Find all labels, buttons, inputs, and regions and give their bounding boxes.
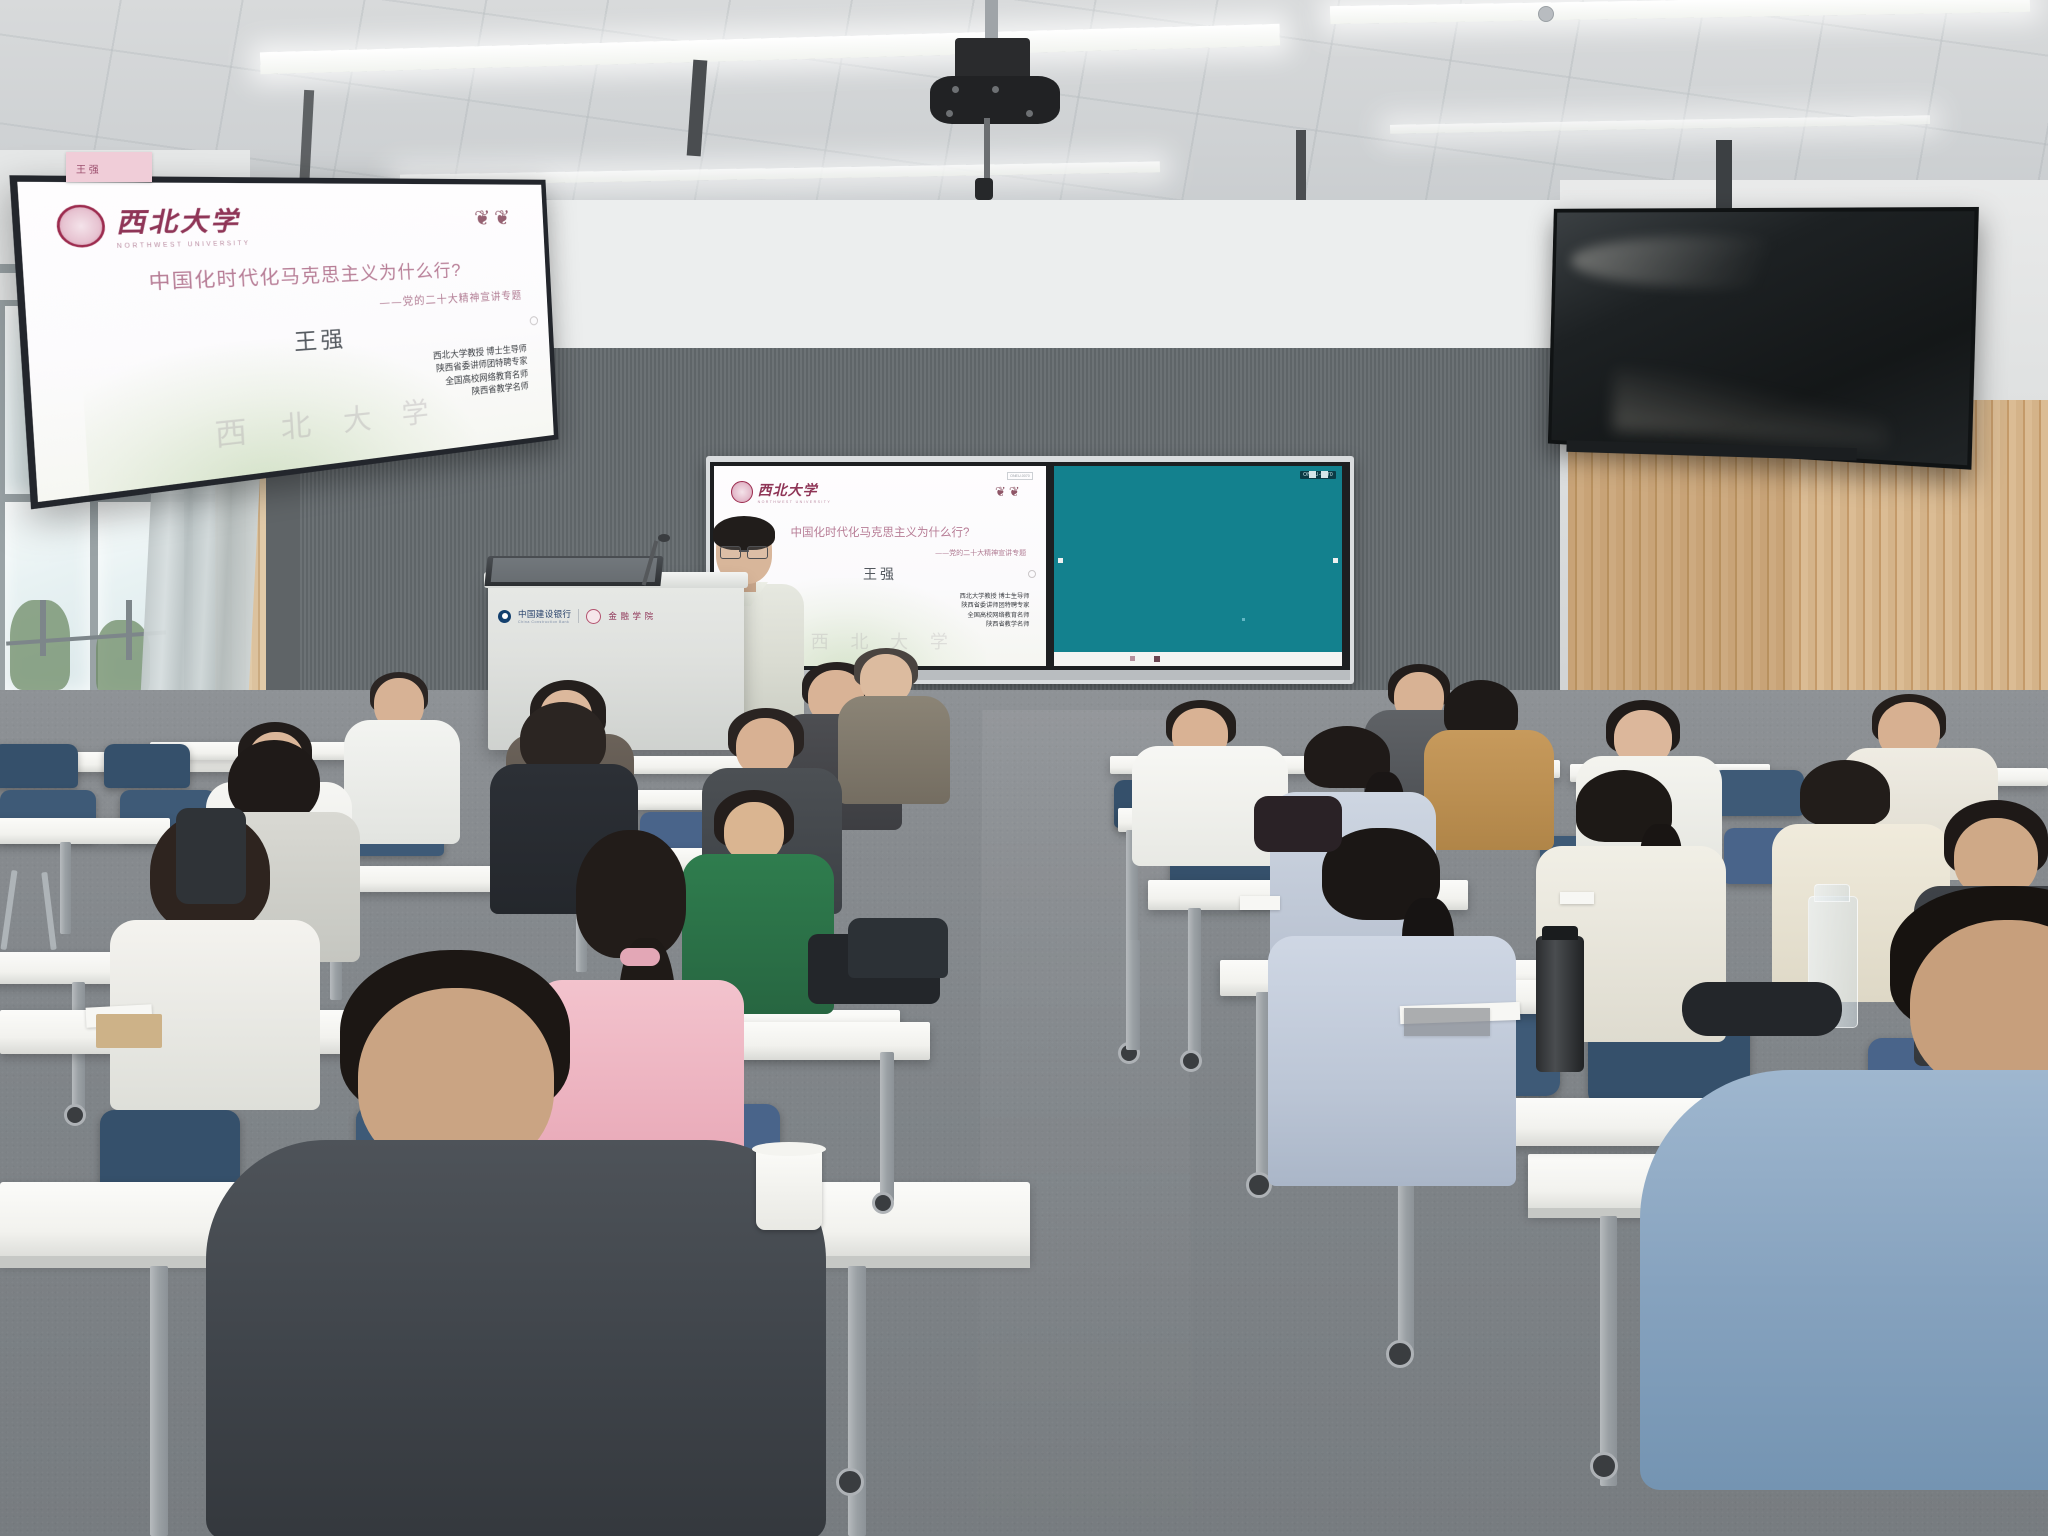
bottle-cap xyxy=(1542,926,1578,940)
slide-credentials: 西北大学教授 博士生导师 陕西省委讲师团特聘专家 全国高校网络教育名师 陕西省教… xyxy=(960,592,1030,629)
mount-screw xyxy=(946,110,953,117)
microphone-icon xyxy=(658,534,670,542)
credential-line: 全国高校网络教育名师 xyxy=(960,611,1030,620)
projector-cable xyxy=(984,118,990,186)
lecture-hall-photo: 西 北 大 学 西北大学 NORTHWEST UNIVERSITY ❦❦ 中国化… xyxy=(0,0,2048,1536)
ceiling-mount-rod xyxy=(1296,130,1306,208)
tv-screen-reflection xyxy=(1570,235,1856,290)
desk-caster xyxy=(836,1468,864,1496)
lectern-sponsor-logos: 中国建设银行 China Construction Bank 金 融 学 院 xyxy=(498,606,730,626)
board-cursor-dot xyxy=(1242,618,1245,621)
credential-line: 西北大学教授 博士生导师 xyxy=(960,592,1030,601)
printed-photo xyxy=(1404,1008,1490,1036)
hair xyxy=(576,830,686,958)
desk-caster xyxy=(64,1104,86,1126)
outside-railing-post xyxy=(40,600,46,656)
mount-screw xyxy=(992,86,999,93)
desk-leg xyxy=(880,1052,894,1202)
seal-icon xyxy=(586,609,601,624)
slide-subtitle: ——党的二十大精神宣讲专题 xyxy=(379,286,522,309)
torso xyxy=(206,1140,826,1536)
credential-line: 陕西省委讲师团特聘专家 xyxy=(960,601,1030,610)
chair xyxy=(1712,770,1804,816)
board-settings-icon[interactable] xyxy=(1309,471,1316,478)
desk-caster xyxy=(872,1192,894,1214)
backpack[interactable] xyxy=(176,808,246,904)
desk-leg xyxy=(1600,1216,1617,1486)
laptop-screen xyxy=(491,558,658,582)
sponsor-name-cn: 金 融 学 院 xyxy=(608,610,653,622)
flying-birds-icon: ❦❦ xyxy=(474,205,515,231)
paper-cup[interactable] xyxy=(756,1148,822,1230)
board-side-handle[interactable] xyxy=(1058,558,1063,563)
cardboard-box[interactable] xyxy=(96,1014,162,1048)
desk-leg xyxy=(1188,908,1201,1058)
torso xyxy=(1424,730,1554,850)
desk-leg xyxy=(60,842,71,934)
university-name-cn: 西北大学 xyxy=(758,480,832,500)
slide-marker-dot xyxy=(1028,570,1036,578)
smart-board-taskbar[interactable] xyxy=(1054,652,1342,666)
mount-screw xyxy=(1026,110,1033,117)
eyeglasses-icon xyxy=(720,546,768,557)
taskbar-item-icon[interactable] xyxy=(1154,656,1160,662)
torso xyxy=(1268,936,1516,1186)
tv-screen-reflection xyxy=(1612,370,1887,446)
desk-caster xyxy=(1180,1050,1202,1072)
logo-divider xyxy=(578,609,579,623)
presenter-hair xyxy=(713,516,775,550)
handbag[interactable] xyxy=(848,918,948,978)
university-name-en: NORTHWEST UNIVERSITY xyxy=(117,240,251,250)
board-status-label: ONEU-0070 xyxy=(1300,471,1336,479)
chair xyxy=(0,744,78,788)
desk-caster xyxy=(1590,1452,1618,1480)
torso xyxy=(838,696,950,804)
taskbar-item-icon[interactable] xyxy=(1130,656,1135,661)
desk-leg xyxy=(1126,940,1140,1050)
paper-sheet[interactable] xyxy=(1240,896,1280,910)
university-name-cn: 西北大学 xyxy=(114,201,250,241)
desk-caster xyxy=(1386,1340,1414,1368)
bottle-neck xyxy=(1814,884,1850,902)
name-placard: 王 强 xyxy=(66,152,152,182)
hair-tie xyxy=(620,948,660,966)
torso xyxy=(1640,1070,2048,1490)
window-frame xyxy=(0,300,5,700)
mount-screw xyxy=(952,86,959,93)
slide-credentials: 西北大学教授 博士生导师 陕西省委讲师团特聘专家 全国高校网络教育名师 陕西省教… xyxy=(433,342,529,402)
university-name-en: NORTHWEST UNIVERSITY xyxy=(758,500,832,504)
laptop-bag[interactable] xyxy=(1682,982,1842,1036)
thermos-bottle[interactable] xyxy=(1536,936,1584,1072)
projector-cable-clip xyxy=(975,178,993,200)
head xyxy=(724,802,784,862)
outside-railing-post xyxy=(126,600,132,660)
sponsor-name-cn: 中国建设银行 xyxy=(518,608,571,620)
torso xyxy=(344,720,460,844)
slide-corner-badge: ONEU-0070 xyxy=(1007,472,1033,480)
board-side-handle[interactable] xyxy=(1333,558,1338,563)
university-logo: 西北大学 NORTHWEST UNIVERSITY xyxy=(731,480,832,504)
university-seal-icon xyxy=(55,205,106,248)
sprinkler-icon xyxy=(1538,6,1554,22)
desk-leg xyxy=(150,1266,168,1536)
board-window-icon[interactable] xyxy=(1321,471,1328,478)
hair xyxy=(1800,760,1890,826)
chair xyxy=(104,744,190,788)
slide-subtitle: ——党的二十大精神宣讲专题 xyxy=(935,548,1026,558)
projector-mount-plate xyxy=(930,76,1060,124)
desk xyxy=(0,818,170,844)
cup-lip xyxy=(752,1142,826,1156)
placard-text: 王 强 xyxy=(76,161,99,176)
sponsor-name-en: China Construction Bank xyxy=(518,620,571,624)
ccb-circle-icon xyxy=(498,610,511,623)
flying-birds-icon: ❦❦ xyxy=(995,484,1023,500)
university-logo: 西北大学 NORTHWEST UNIVERSITY xyxy=(55,201,251,252)
wall-tv-display[interactable] xyxy=(1548,207,1979,470)
handbag[interactable] xyxy=(1254,796,1342,852)
credential-line: 陕西省教学名师 xyxy=(960,620,1030,629)
paper-sheet[interactable] xyxy=(1560,892,1594,904)
university-seal-icon xyxy=(731,481,753,503)
smart-board-teal-panel[interactable]: ONEU-0070 xyxy=(1054,466,1342,652)
